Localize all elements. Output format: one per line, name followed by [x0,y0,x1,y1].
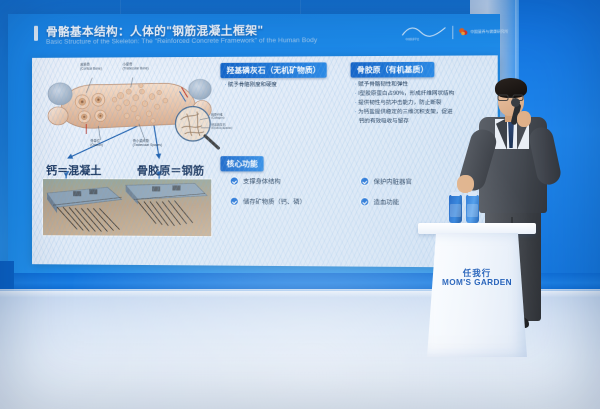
bullet-item: 赋予骨骼韧性和弹性 [355,80,454,90]
logo-divider [452,25,453,38]
svg-text:中国营养学会: 中国营养学会 [405,37,420,41]
check-circle-icon [231,177,238,184]
rebar-photo-svg [43,179,211,236]
core-function-label: 储存矿物质（钙、磷） [243,197,306,206]
bullet-item: 赋予骨骼刚度和硬度 [225,81,277,90]
bone-label-osteon: 骨单位(Osteon) [90,140,103,147]
slide-subtitle: Basic Structure of the Skeleton: The "Re… [46,37,317,46]
equation-collagen-rebar: 骨胶原＝钢筋 [137,162,204,178]
check-circle-icon [231,198,238,205]
rebar-construction-photo [42,178,212,237]
bullet-item: 提供韧性与抗冲击能力，防止断裂 [355,99,454,109]
speaker-hand-right [517,111,531,127]
bone-anatomy-illustration: 皮质骨(Cortical Bone) 小梁骨(Trabecular Bone) … [40,61,225,154]
bone-label-trabecular: 小梁骨(Trabecular Bone) [123,63,149,71]
core-function-item: 支撑身体结构 [231,176,357,185]
bullet-item: Ⅰ型胶原蛋白占90%，形成纤维网状结构 [355,90,454,100]
bottle-cap [451,192,460,196]
header-hydroxyapatite: 羟基磷灰石（无机矿物质） [220,62,326,78]
microphone-head-icon [511,98,520,107]
equation-calcium-concrete: 钙＝混凝土 [46,162,101,178]
speaker-hand-left [457,175,474,193]
conference-stage: 骨骼基本结构：人体的"钢筋混凝土框架" Basic Structure of t… [0,0,600,409]
wave-logo-icon: 中国营养学会 [401,23,447,42]
core-function-label: 保护内脏器官 [374,177,412,186]
podium-body [427,233,527,357]
stage-front-band-left [0,261,14,291]
bullet-item: 为钙盐提供稳定的三维沉积支架，促进 [355,108,454,118]
brand-mark-icon [459,28,469,36]
check-circle-icon [361,178,368,185]
bone-label-collagen: 胶原纤维(Collagen) [211,114,224,121]
core-function-label: 支撑身体结构 [243,176,281,185]
title-accent-bar [34,26,38,41]
brand-logo: 中国营养与健康研究所 [459,27,509,36]
core-function-label: 造血功能 [374,197,399,206]
core-function-item: 储存矿物质（钙、磷） [231,197,357,207]
bone-label-hydroxyapatite: 羟基磷灰石(Hydroxyapatite) [211,124,232,131]
podium-top-surface [418,223,536,234]
bone-label-cortical: 皮质骨(Cortical Bone) [80,64,101,71]
header-core-functions: 核心功能 [220,156,264,171]
brand-logo-text: 中国营养与健康研究所 [470,29,508,34]
bottle-label [450,204,461,217]
water-bottle [466,195,479,223]
bullets-hydroxyapatite: 赋予骨骼刚度和硬度 [225,81,277,90]
bullets-collagen: 赋予骨骼韧性和弹性 Ⅰ型胶原蛋白占90%，形成纤维网状结构 提供韧性与抗冲击能力… [355,80,454,127]
slide-logo-zone: 中国营养学会 中国营养与健康研究所 [401,20,509,43]
check-circle-icon [361,198,368,205]
bottle-label [467,204,478,217]
speaker-podium: 任我行 MOM'S GARDEN [418,223,536,357]
bottle-cap [468,192,477,196]
water-bottle [449,195,462,223]
podium-brand-en: MOM'S GARDEN [418,278,536,287]
bone-label-trabecular-spaces: 骨小梁间隙(Trabecular Spaces) [133,140,162,147]
bullet-item-continuation: 钙的有效吸收与留存 [355,118,454,127]
header-collagen: 骨胶原（有机基质） [351,62,435,78]
